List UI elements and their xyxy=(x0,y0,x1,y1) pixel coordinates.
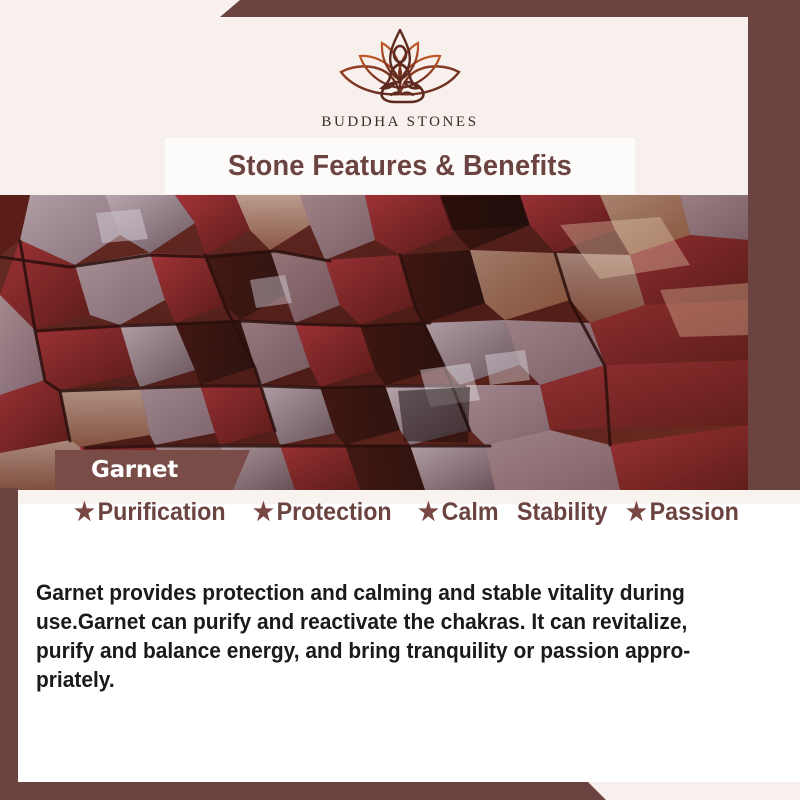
star-icon: ★ xyxy=(418,500,439,525)
benefit-label: Calm xyxy=(442,498,499,527)
benefits-row: ★ Purification ★ Protection ★ Calm Stabi… xyxy=(0,490,800,535)
benefit-purification: ★ Purification xyxy=(74,498,226,527)
benefit-protection: ★ Protection xyxy=(253,498,392,527)
page-title: Stone Features & Benefits xyxy=(179,138,621,194)
brand-name: BUDDHA STONES xyxy=(321,114,478,131)
title-banner: Stone Features & Benefits xyxy=(165,138,635,194)
description-line-4: priately. xyxy=(36,665,702,694)
description-line-2: use.Garnet can purify and reactivate the… xyxy=(36,607,702,636)
benefit-stability: Stability xyxy=(517,498,607,527)
poster-root: BUDDHA STONES Stone Features & Benefits xyxy=(0,0,800,800)
brand-logo: BUDDHA STONES xyxy=(0,22,800,131)
benefit-label: Purification xyxy=(98,498,226,527)
star-icon: ★ xyxy=(626,500,647,525)
benefit-label: Passion xyxy=(650,498,739,527)
garnet-crystals-photo xyxy=(0,195,748,490)
benefit-label: Protection xyxy=(277,498,392,527)
photo-artwork xyxy=(0,195,748,490)
description-paragraph: Garnet provides protection and calming a… xyxy=(36,578,702,694)
benefit-label: Stability xyxy=(517,498,607,527)
description-line-1: Garnet provides protection and calming a… xyxy=(36,578,702,607)
description-line-3: purify and balance energy, and bring tra… xyxy=(36,636,702,665)
benefit-calm: ★ Calm xyxy=(418,498,499,527)
star-icon: ★ xyxy=(74,500,95,525)
header: BUDDHA STONES Stone Features & Benefits xyxy=(0,0,800,195)
lotus-meditation-icon xyxy=(325,22,475,110)
bottom-border-band xyxy=(0,782,800,800)
benefit-passion: ★ Passion xyxy=(626,498,739,527)
stone-name: Garnet xyxy=(37,450,178,490)
star-icon: ★ xyxy=(253,500,274,525)
